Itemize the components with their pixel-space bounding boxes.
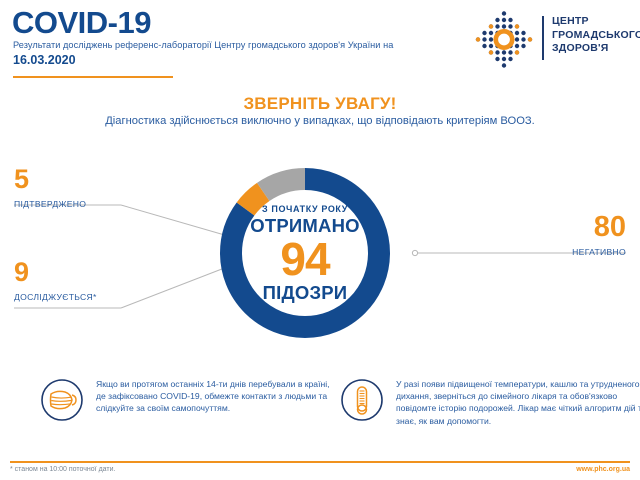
logo-text: ЦЕНТР ГРОМАДСЬКОГО ЗДОРОВ'Я — [552, 15, 640, 56]
stat-investigated-value: 9 — [14, 258, 97, 286]
donut-center-labels: З ПОЧАТКУ РОКУ ОТРИМАНО 94 ПІДОЗРИ — [215, 163, 395, 343]
donut-total-value: 94 — [280, 236, 329, 283]
tip-quarantine-text: Якщо ви протягом останніх 14-ти днів пер… — [96, 378, 338, 415]
stat-confirmed: 5 ПІДТВЕРДЖЕНО — [14, 165, 86, 209]
footer-divider — [10, 461, 630, 463]
tip-quarantine: Якщо ви протягом останніх 14-ти днів пер… — [40, 378, 340, 468]
logo-text-line-3: ЗДОРОВ'Я — [552, 42, 640, 56]
stat-investigated: 9 ДОСЛІДЖУЄТЬСЯ* — [14, 258, 97, 302]
report-date: 16.03.2020 — [13, 53, 76, 67]
logo-text-line-2: ГРОМАДСЬКОГО — [552, 29, 640, 43]
header-subtitle: Результати досліджень референс-лаборатор… — [13, 40, 393, 50]
tip-symptoms: У разі появи підвищеної температури, каш… — [340, 378, 640, 468]
footer-website-link[interactable]: www.phc.org.ua — [576, 466, 630, 473]
stat-investigated-label: ДОСЛІДЖУЄТЬСЯ* — [14, 292, 97, 302]
stat-confirmed-label: ПІДТВЕРДЖЕНО — [14, 199, 86, 209]
infographic-page: COVID-19 Результати досліджень референс-… — [0, 0, 640, 480]
logo-text-line-1: ЦЕНТР — [552, 15, 640, 29]
stat-negative-value: 80 — [572, 213, 626, 241]
tip-symptoms-text: У разі появи підвищеної температури, каш… — [396, 378, 640, 427]
phc-logo: ЦЕНТР ГРОМАДСЬКОГО ЗДОРОВ'Я — [472, 10, 632, 68]
donut-chart: З ПОЧАТКУ РОКУ ОТРИМАНО 94 ПІДОЗРИ — [215, 163, 395, 343]
page-title: COVID-19 — [12, 6, 151, 40]
stat-negative-label: НЕГАТИВНО — [572, 247, 626, 257]
logo-divider — [542, 16, 544, 60]
thermometer-icon — [340, 378, 384, 422]
face-mask-icon — [40, 378, 84, 422]
footer-note: * станом на 10:00 поточної дати. — [10, 466, 115, 473]
header-divider — [13, 76, 173, 78]
attention-subtitle: Діагностика здійснюється виключно у випа… — [0, 115, 640, 127]
phc-logo-mark-icon — [472, 10, 536, 68]
donut-caption-bottom: ПІДОЗРИ — [263, 283, 348, 303]
stat-negative: 80 НЕГАТИВНО — [572, 213, 626, 257]
stat-confirmed-value: 5 — [14, 165, 86, 193]
donut-caption-top: З ПОЧАТКУ РОКУ — [262, 204, 348, 214]
attention-title: ЗВЕРНІТЬ УВАГУ! — [0, 94, 640, 114]
